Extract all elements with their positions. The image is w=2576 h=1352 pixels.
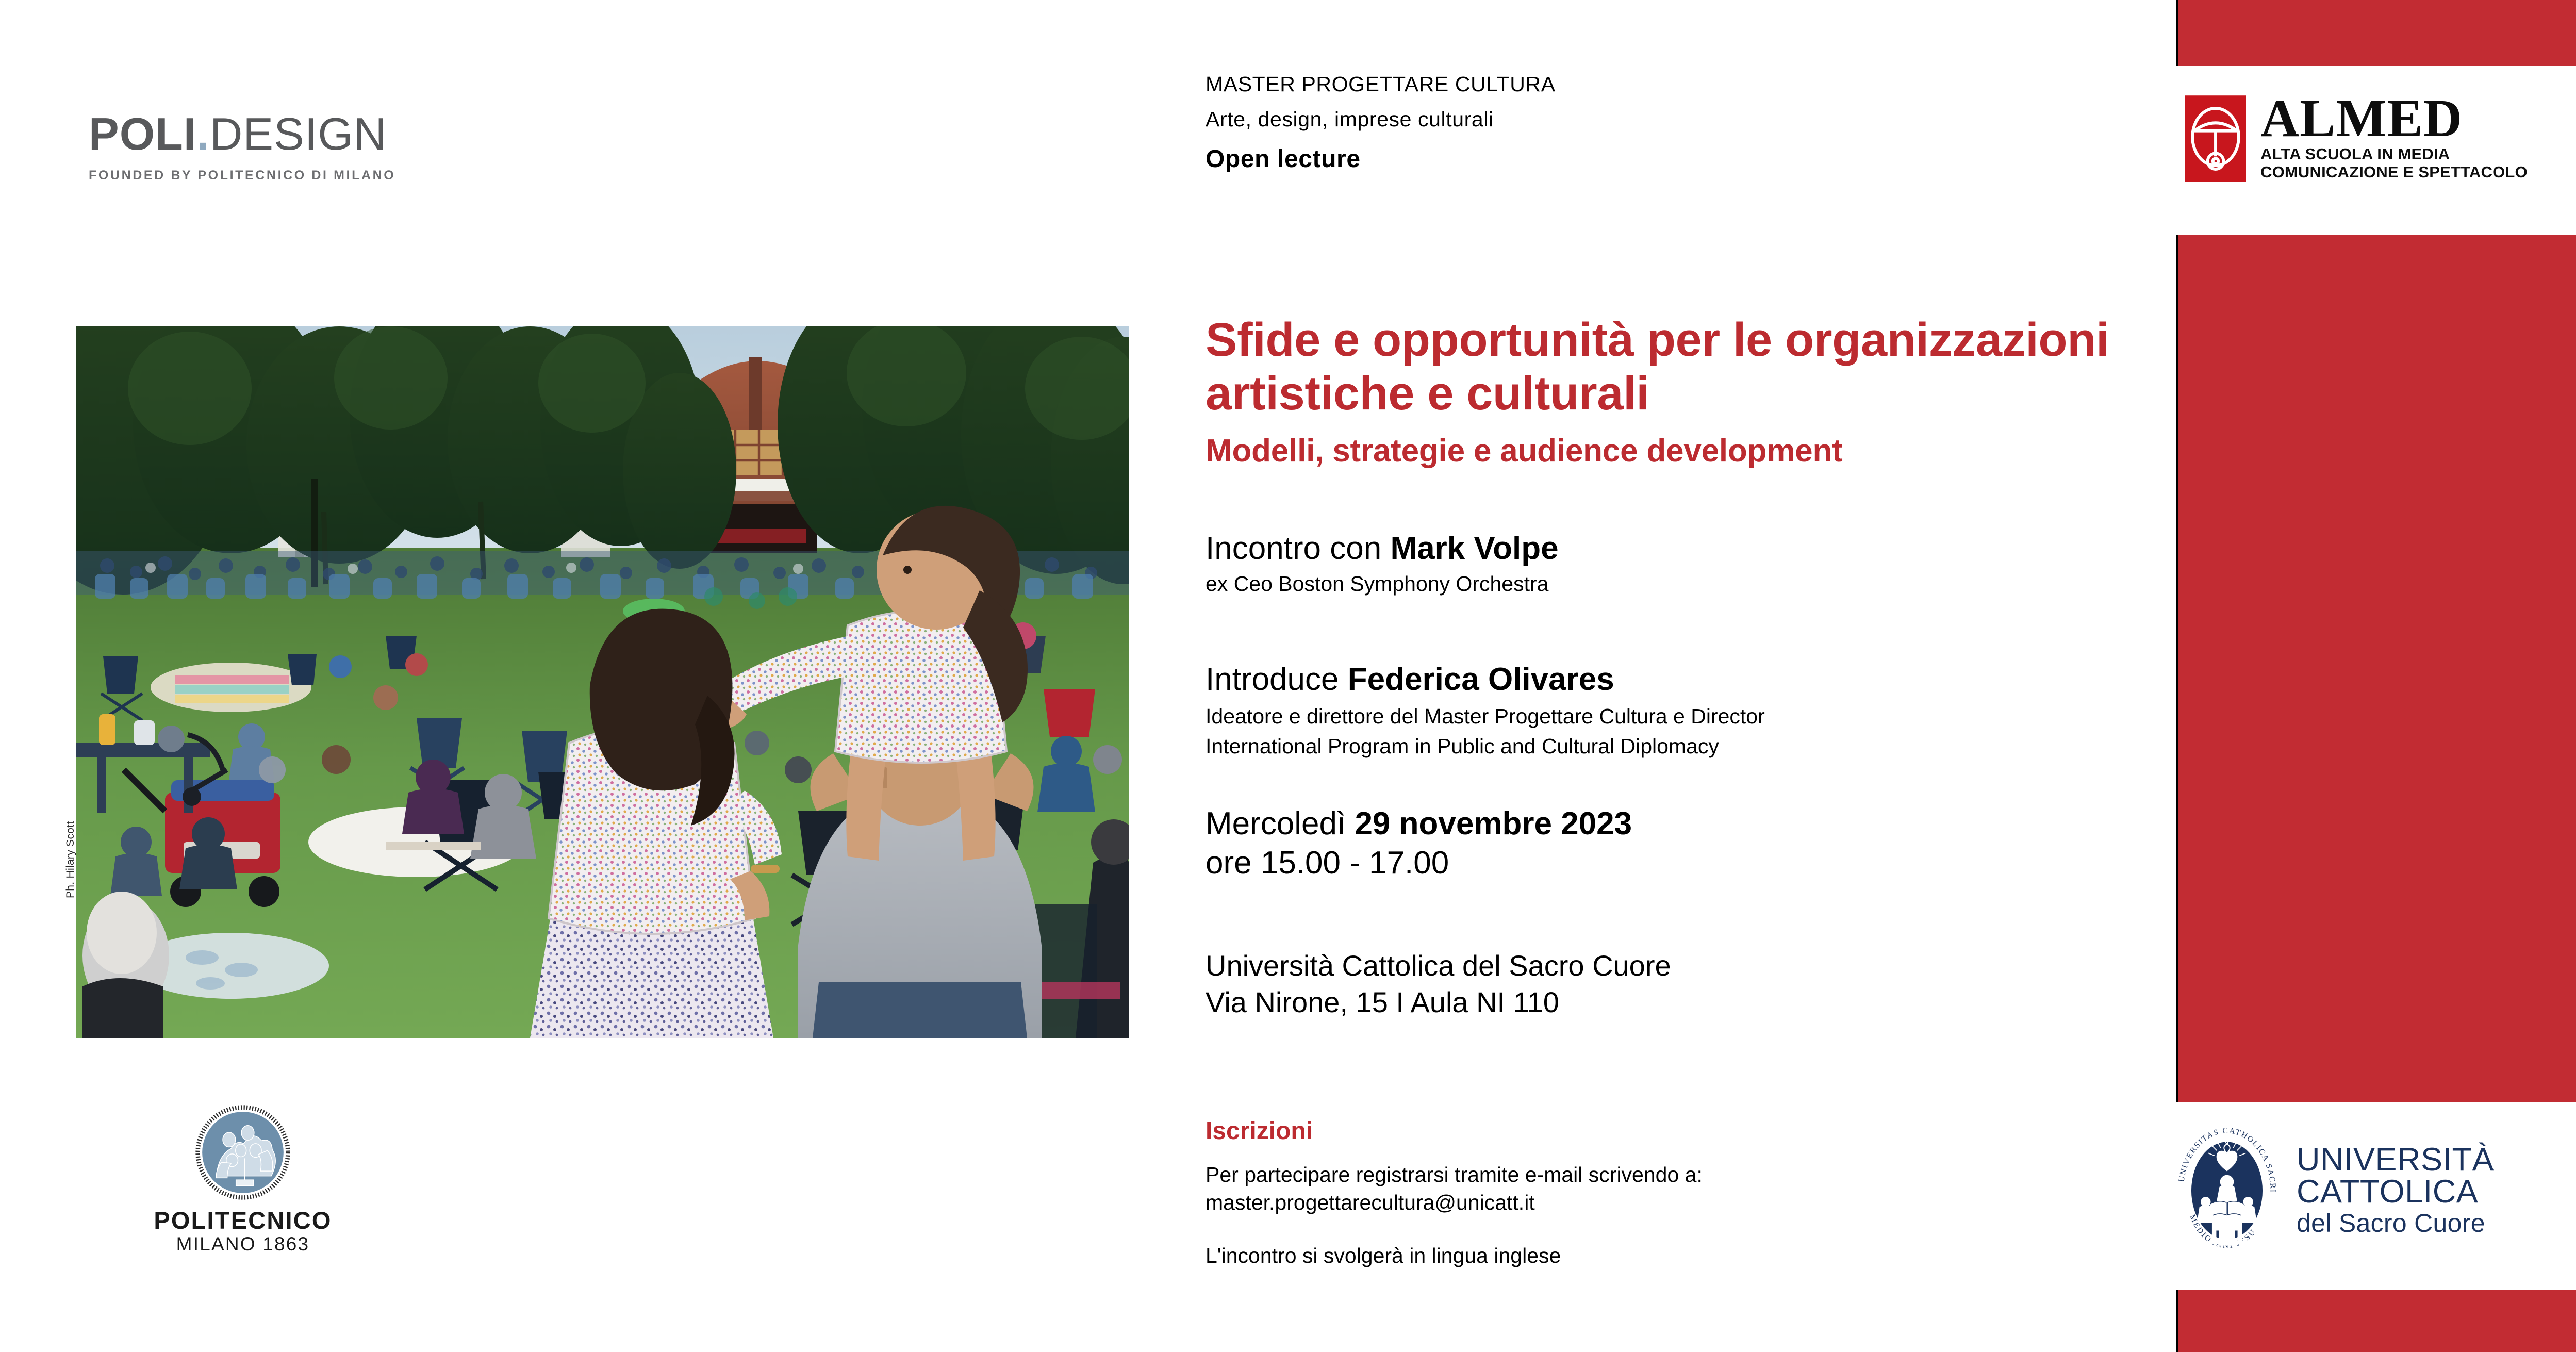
introducer-line: Introduce Federica Olivares [1206,661,2134,698]
program-subtitle: Arte, design, imprese culturali [1206,106,2134,132]
polidesign-wordmark: POLI.DESIGN [89,111,491,157]
unicatt-line1: UNIVERSITÀ [2297,1144,2494,1176]
unicatt-logo: UNIVERSITAS CATHOLICA SACRI CORDIS MEDIO… [2171,1122,2576,1260]
unicatt-text: UNIVERSITÀ CATTOLICA del Sacro Cuore [2297,1144,2494,1236]
registration-email[interactable]: master.progettarecultura@unicatt.it [1206,1189,2134,1217]
event-date-line: Mercoledì 29 novembre 2023 [1206,804,2134,844]
datetime-block: Mercoledì 29 novembre 2023 ore 15.00 - 1… [1206,804,2134,882]
almed-subtitle-line2: COMUNICAZIONE E SPETTACOLO [2260,163,2528,182]
polidesign-logo: POLI.DESIGN FOUNDED BY POLITECNICO DI MI… [89,111,491,183]
registration-heading: Iscrizioni [1206,1118,2134,1145]
registration-block: Iscrizioni Per partecipare registrarsi t… [1206,1118,2134,1269]
venue-block: Università Cattolica del Sacro Cuore Via… [1206,948,2134,1020]
program-name: MASTER PROGETTARE CULTURA [1206,71,2134,97]
introducer-block: Introduce Federica Olivares Ideatore e d… [1206,661,2134,761]
introducer-name: Federica Olivares [1348,662,1614,697]
speaker-prefix: Incontro con [1206,531,1390,566]
red-rule-bottom [2176,1290,2178,1352]
event-time: ore 15.00 - 17.00 [1206,844,2134,883]
venue-address: Via Nirone, 15 I Aula NI 110 [1206,984,2134,1021]
unicatt-line3: del Sacro Cuore [2297,1209,2494,1237]
politecnico-seal-icon [194,1103,292,1201]
almed-text: ALMED ALTA SCUOLA IN MEDIA COMUNICAZIONE… [2260,95,2528,182]
red-band-middle [2178,235,2576,1102]
unicatt-line2: CATTOLICA [2297,1176,2494,1208]
event-photo [76,326,1129,1038]
photo-credit: Ph. Hilary Scott [64,795,77,898]
politecnico-year: MILANO 1863 [122,1233,364,1256]
header-block: MASTER PROGETTARE CULTURA Arte, design, … [1206,71,2134,175]
lecture-title-line1: Sfide e opportunità per le organizzazion… [1206,314,2144,367]
almed-subtitle-line1: ALTA SCUOLA IN MEDIA [2260,145,2528,163]
politecnico-name: POLITECNICO [122,1208,364,1233]
almed-wordmark: ALMED [2260,96,2528,140]
lecture-title: Sfide e opportunità per le organizzazion… [1206,314,2144,421]
unicatt-seal-icon: UNIVERSITAS CATHOLICA SACRI CORDIS MEDIO… [2171,1122,2283,1260]
event-date: 29 novembre 2023 [1355,806,1632,842]
lecture-subtitle: Modelli, strategie e audience developmen… [1206,433,2144,469]
speaker-role: ex Ceo Boston Symphony Orchestra [1206,570,2134,598]
language-note: L'incontro si svolgerà in lingua inglese [1206,1242,2134,1270]
event-photo-illustration [76,326,1129,1038]
speaker-line: Incontro con Mark Volpe [1206,530,2134,567]
red-rule-middle [2176,235,2178,1102]
polidesign-dot: . [196,108,209,159]
polidesign-tagline: FOUNDED BY POLITECNICO DI MILANO [89,168,491,183]
introducer-role-line1: Ideatore e direttore del Master Progetta… [1206,701,2134,731]
speaker-name: Mark Volpe [1390,531,1558,566]
red-band-top [2178,0,2576,66]
venue-institution: Università Cattolica del Sacro Cuore [1206,948,2134,984]
speaker-block: Incontro con Mark Volpe ex Ceo Boston Sy… [1206,530,2134,598]
registration-intro: Per partecipare registrarsi tramite e-ma… [1206,1161,2134,1189]
introducer-prefix: Introduce [1206,662,1348,697]
event-type: Open lecture [1206,144,2134,175]
red-band-bottom [2178,1290,2576,1352]
polidesign-word-design: DESIGN [210,108,387,159]
lecture-title-line2: artistiche e culturali [1206,367,2144,421]
almed-mask-icon [2185,95,2246,182]
polidesign-word-poli: POLI [89,108,196,159]
event-weekday: Mercoledì [1206,806,1355,842]
almed-logo: ALMED ALTA SCUOLA IN MEDIA COMUNICAZIONE… [2185,95,2567,182]
title-block: Sfide e opportunità per le organizzazion… [1206,314,2144,469]
red-rule-top [2176,0,2178,66]
introducer-role-line2: International Program in Public and Cult… [1206,731,2134,761]
politecnico-logo: POLITECNICO MILANO 1863 [122,1103,364,1256]
